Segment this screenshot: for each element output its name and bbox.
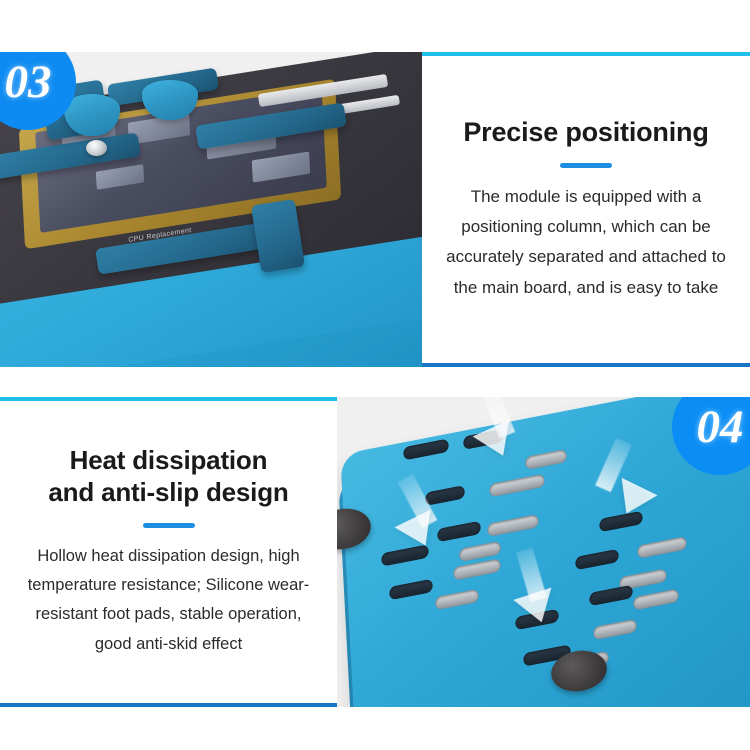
feature-04-title-line-1: Heat dissipation <box>70 445 268 475</box>
title-accent-underline <box>143 523 195 528</box>
feature-03-description: The module is equipped with a positionin… <box>446 182 726 303</box>
feature-04-title: Heat dissipation and anti-slip design <box>48 445 288 508</box>
feature-03-title: Precise positioning <box>463 116 708 149</box>
feature-panel-03: CPU Replacement CPU-A11/A12 03 Precise p… <box>0 52 750 367</box>
feature-04-description: Hollow heat dissipation design, high tem… <box>19 542 319 659</box>
title-accent-underline <box>560 163 612 168</box>
badge-number-text: 04 <box>697 400 744 454</box>
feature-04-product-image: 04 <box>337 397 750 707</box>
feature-04-title-line-2: and anti-slip design <box>48 477 288 507</box>
feature-03-text-block: Precise positioning The module is equipp… <box>422 52 750 367</box>
feature-panel-04: Heat dissipation and anti-slip design Ho… <box>0 397 750 707</box>
feature-04-text-block: Heat dissipation and anti-slip design Ho… <box>0 397 337 707</box>
feature-03-product-image: CPU Replacement CPU-A11/A12 03 <box>0 52 422 367</box>
badge-number-text: 03 <box>5 55 52 109</box>
thumb-screw <box>86 140 107 156</box>
